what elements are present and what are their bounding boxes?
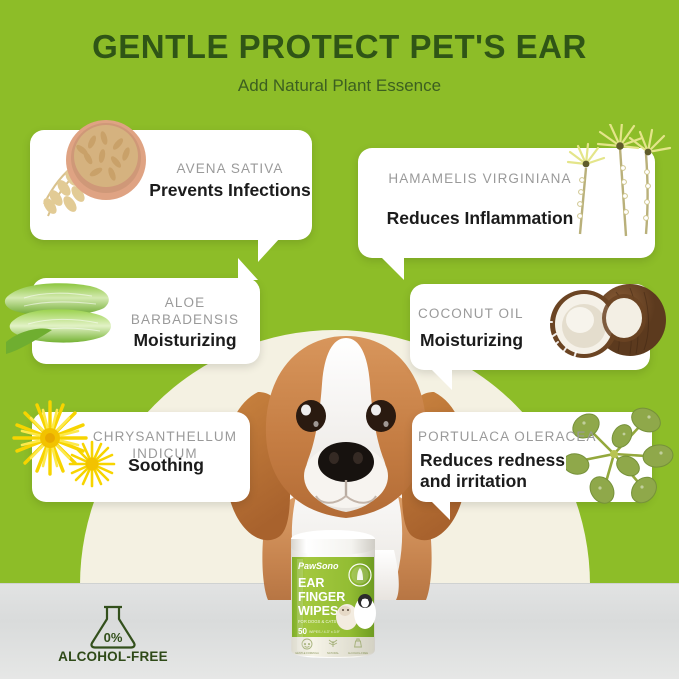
oat-bowl-icon xyxy=(42,108,150,220)
ingredient-claim: Moisturizing xyxy=(420,330,570,351)
alcohol-free-badge: 0% ALCOHOL-FREE xyxy=(48,603,178,669)
ingredient-caption: COCONUT OIL xyxy=(418,305,558,322)
product-jar[interactable]: PawSono EAR FINGER WIPES FOR DOGS & CATS… xyxy=(287,525,379,659)
card-tail-aloe-barbadensis xyxy=(238,258,258,280)
card-tail-avena-sativa xyxy=(258,238,280,262)
ingredient-claim: Prevents Infections xyxy=(140,180,320,201)
svg-text:NATURAL: NATURAL xyxy=(327,651,339,655)
ingredient-claim: Reduces Inflammation xyxy=(365,208,595,229)
ingredient-claim: Moisturizing xyxy=(118,330,252,351)
ingredient-caption: ALOE BARBADENSIS xyxy=(120,294,250,328)
svg-text:FOR DOGS & CATS: FOR DOGS & CATS xyxy=(298,619,337,624)
ingredient-caption: AVENA SATIVA xyxy=(150,160,310,177)
svg-text:GENTLE FORMULA: GENTLE FORMULA xyxy=(295,651,319,655)
svg-text:WIPES: WIPES xyxy=(298,604,338,618)
ingredient-caption: PORTULACA OLERACEA xyxy=(418,428,598,445)
svg-text:WIPES / 4.3" x 3.9": WIPES / 4.3" x 3.9" xyxy=(309,630,341,634)
ingredient-claim: Reduces redness and irritation xyxy=(420,450,580,492)
alcohol-free-percent: 0% xyxy=(104,630,123,645)
card-tail-hamamelis-virginiana xyxy=(380,256,404,280)
svg-text:FINGER: FINGER xyxy=(298,590,345,604)
aloe-slice-icon xyxy=(4,268,132,364)
page-subtitle: Add Natural Plant Essence xyxy=(0,76,679,96)
card-tail-portulaca-oleracea xyxy=(430,500,450,520)
product-brand: PawSono xyxy=(298,561,339,571)
purslane-leaf-icon xyxy=(566,398,678,504)
coconut-icon xyxy=(538,272,668,376)
ingredient-caption: HAMAMELIS VIRGINIANA xyxy=(380,170,580,187)
page-title: GENTLE PROTECT PET'S EAR xyxy=(0,28,679,66)
svg-text:ALCOHOL-FREE: ALCOHOL-FREE xyxy=(348,651,368,655)
ingredient-claim: Soothing xyxy=(96,455,236,476)
alcohol-free-label: ALCOHOL-FREE xyxy=(48,649,178,664)
poster-canvas: GENTLE PROTECT PET'S EAR Add Natural Pla… xyxy=(0,0,679,679)
flask-icon: 0% xyxy=(48,603,178,649)
card-tail-coconut-oil xyxy=(430,368,452,390)
